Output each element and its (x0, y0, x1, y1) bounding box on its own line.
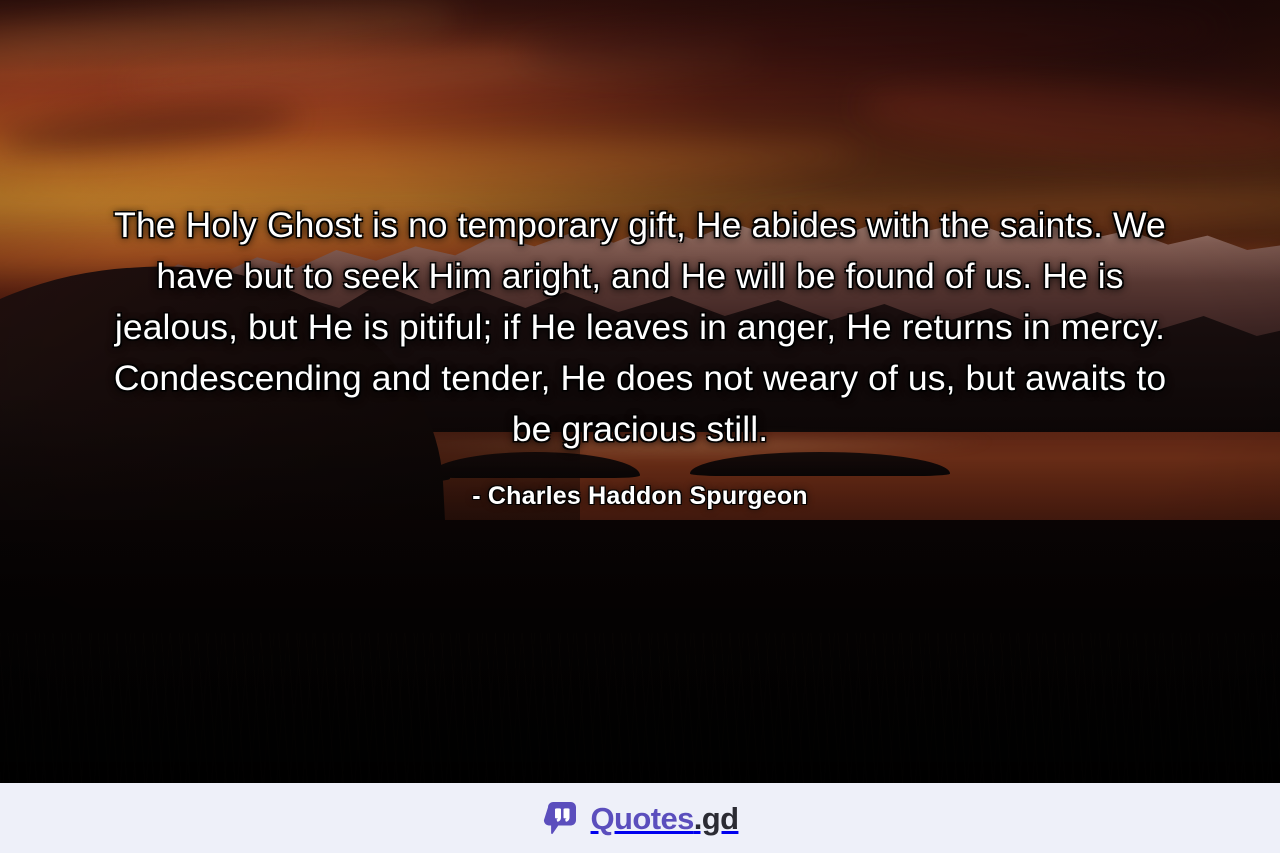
quote-text: The Holy Ghost is no temporary gift, He … (95, 200, 1185, 455)
footer-bar: Quotes.gd (0, 783, 1280, 853)
quote-card: The Holy Ghost is no temporary gift, He … (0, 0, 1280, 853)
quote-bubble-icon (542, 798, 582, 838)
quote-author: - Charles Haddon Spurgeon (472, 482, 808, 511)
brand-wordmark: Quotes.gd (591, 803, 739, 834)
brand-logo-link[interactable]: Quotes.gd (542, 798, 739, 838)
brand-tld: .gd (694, 801, 739, 836)
quote-overlay: The Holy Ghost is no temporary gift, He … (0, 0, 1280, 783)
brand-name: Quotes (591, 801, 694, 836)
